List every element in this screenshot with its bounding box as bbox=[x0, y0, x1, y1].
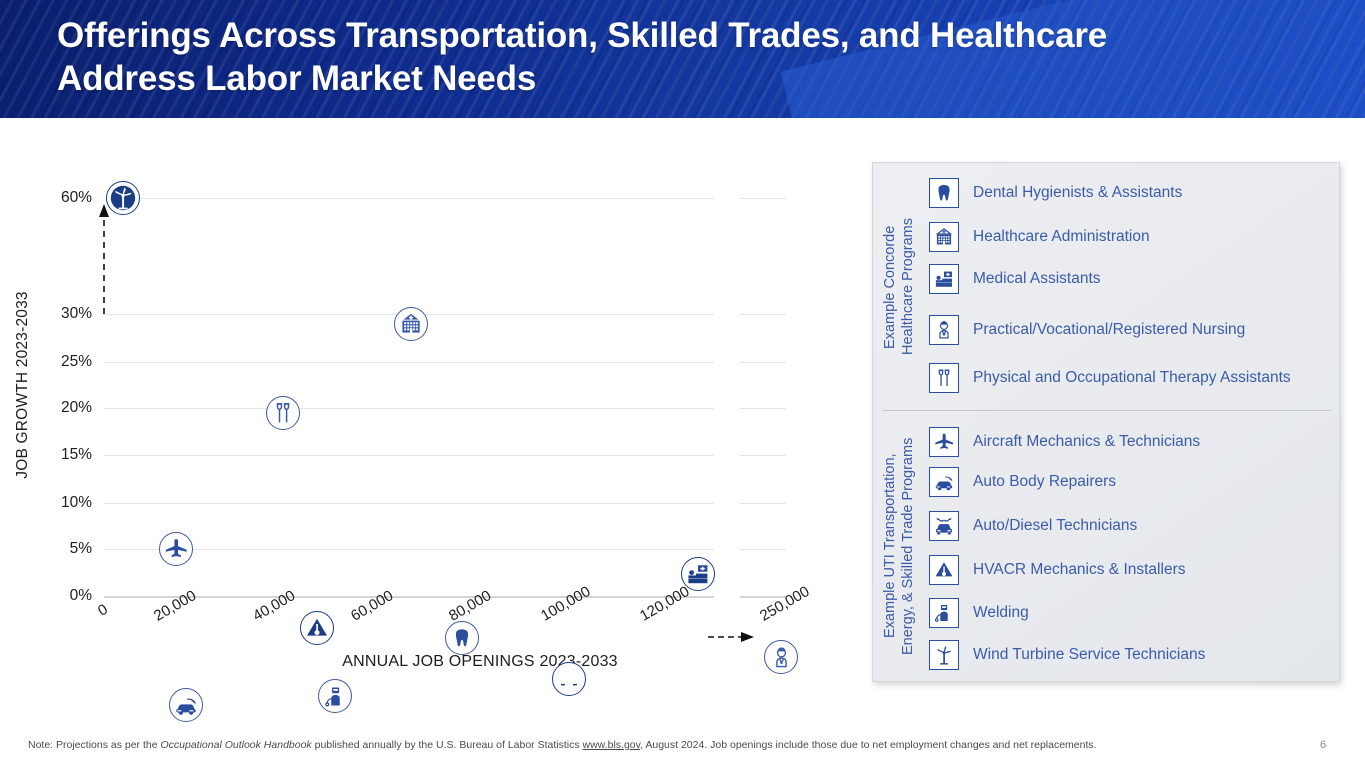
gridline-25-ext bbox=[740, 362, 786, 363]
footnote-link[interactable]: www.bls.gov bbox=[583, 739, 641, 751]
hospital-icon bbox=[929, 222, 959, 252]
data-point-healthcare-administration[interactable] bbox=[394, 307, 428, 341]
legend-item-dental-hygienists[interactable]: Dental Hygienists & Assistants bbox=[929, 178, 1182, 208]
x-tick-20000: 20,000 bbox=[151, 587, 199, 625]
car-body-icon bbox=[929, 467, 959, 497]
y-tick-60: 60% bbox=[20, 189, 92, 207]
car-wrench-icon bbox=[929, 511, 959, 541]
wind-turbine-icon bbox=[110, 185, 136, 211]
legend-item-label: Wind Turbine Service Technicians bbox=[973, 646, 1205, 664]
page-title: Offerings Across Transportation, Skilled… bbox=[57, 14, 1207, 101]
airplane-icon bbox=[929, 427, 959, 457]
footnote-middle: published annually by the U.S. Bureau of… bbox=[312, 739, 583, 751]
data-point-wind-turbine-service-technicians[interactable] bbox=[106, 181, 140, 215]
y-axis-ticks: 60% 30% 25% 20% 15% 10% 5% 0% bbox=[20, 118, 92, 618]
footnote: Note: Projections as per the Occupationa… bbox=[28, 739, 1228, 751]
legend-item-wind-turbine-technicians[interactable]: Wind Turbine Service Technicians bbox=[929, 640, 1205, 670]
footnote-publication-title: Occupational Outlook Handbook bbox=[161, 739, 312, 751]
data-point-aircraft-mechanics-and-technicians[interactable] bbox=[159, 532, 193, 566]
x-tick-60000: 60,000 bbox=[348, 587, 396, 625]
nurse-icon bbox=[769, 645, 794, 670]
thermostat-icon bbox=[929, 555, 959, 585]
airplane-icon bbox=[163, 536, 189, 562]
wind-turbine-icon bbox=[929, 640, 959, 670]
gridline-20-ext bbox=[740, 408, 786, 409]
x-tick-40000: 40,000 bbox=[250, 587, 298, 625]
tooth-icon bbox=[450, 626, 474, 650]
legend-item-label: HVACR Mechanics & Installers bbox=[973, 561, 1185, 579]
legend-item-auto-diesel-technicians[interactable]: Auto/Diesel Technicians bbox=[929, 511, 1137, 541]
data-point-physical-and-occupational-therapy-assistants[interactable] bbox=[266, 396, 300, 430]
car-wrench-icon bbox=[556, 666, 582, 692]
legend-item-medical-assistants[interactable]: Medical Assistants bbox=[929, 264, 1101, 294]
welder-icon bbox=[323, 684, 348, 709]
gridline-20 bbox=[104, 408, 714, 409]
crutches-icon bbox=[929, 363, 959, 393]
welder-icon bbox=[929, 598, 959, 628]
x-tick-120000: 120,000 bbox=[637, 583, 692, 625]
gridline-10 bbox=[104, 503, 714, 504]
legend-item-healthcare-administration[interactable]: Healthcare Administration bbox=[929, 222, 1150, 252]
y-tick-20: 20% bbox=[20, 399, 92, 417]
legend-item-label: Dental Hygienists & Assistants bbox=[973, 184, 1182, 202]
legend-item-aircraft-mechanics[interactable]: Aircraft Mechanics & Technicians bbox=[929, 427, 1200, 457]
legend-item-label: Medical Assistants bbox=[973, 270, 1101, 288]
tooth-icon bbox=[929, 178, 959, 208]
gridline-5-ext bbox=[740, 549, 786, 550]
nurse-icon bbox=[929, 315, 959, 345]
y-tick-5: 5% bbox=[20, 540, 92, 558]
x-tick-100000: 100,000 bbox=[538, 583, 593, 625]
x-tick-80000: 80,000 bbox=[446, 587, 494, 625]
gridline-25 bbox=[104, 362, 714, 363]
footnote-suffix: , August 2024. Job openings include thos… bbox=[640, 739, 1096, 751]
gridline-15 bbox=[104, 455, 714, 456]
legend-item-auto-body-repairers[interactable]: Auto Body Repairers bbox=[929, 467, 1116, 497]
legend-item-hvacr-mechanics[interactable]: HVACR Mechanics & Installers bbox=[929, 555, 1185, 585]
data-point-medical-assistants[interactable] bbox=[681, 557, 715, 591]
crutches-icon bbox=[270, 400, 296, 426]
legend-group-uti: Example UTI Transportation, Energy, & Sk… bbox=[873, 415, 1341, 677]
legend-group-label-uti: Example UTI Transportation, Energy, & Sk… bbox=[881, 421, 917, 671]
legend-item-label: Auto Body Repairers bbox=[973, 473, 1116, 491]
x-tick-0: 0 bbox=[95, 601, 111, 620]
legend-item-label: Practical/Vocational/Registered Nursing bbox=[973, 321, 1245, 339]
slide-header-banner: Offerings Across Transportation, Skilled… bbox=[0, 0, 1365, 118]
y-axis-break-arrow bbox=[97, 204, 111, 316]
car-body-icon bbox=[173, 692, 199, 718]
legend-item-label: Aircraft Mechanics & Technicians bbox=[973, 433, 1200, 451]
legend-group-concorde: Example Concorde Healthcare Programs Den… bbox=[873, 163, 1341, 410]
data-point-welding[interactable] bbox=[318, 679, 352, 713]
y-tick-30: 30% bbox=[20, 305, 92, 323]
y-tick-15: 15% bbox=[20, 446, 92, 464]
page-number: 6 bbox=[1320, 739, 1326, 751]
scatter-chart: JOB GROWTH 2023-2033 ANNUAL JOB OPENINGS… bbox=[0, 118, 870, 718]
x-axis-title: ANNUAL JOB OPENINGS 2023-2033 bbox=[200, 653, 760, 671]
data-point-hvacr-mechanics-and-installers[interactable] bbox=[300, 611, 334, 645]
legend-item-pt-ot-assistants[interactable]: Physical and Occupational Therapy Assist… bbox=[929, 363, 1291, 393]
legend-divider bbox=[883, 410, 1331, 411]
slide: Offerings Across Transportation, Skilled… bbox=[0, 0, 1365, 768]
legend-group-label-concorde: Example Concorde Healthcare Programs bbox=[881, 187, 917, 387]
data-point-practical-vocational-registered-nursing[interactable] bbox=[764, 640, 798, 674]
y-tick-0: 0% bbox=[20, 587, 92, 605]
legend-item-welding[interactable]: Welding bbox=[929, 598, 1029, 628]
gridline-30-ext bbox=[740, 314, 786, 315]
legend-item-label: Healthcare Administration bbox=[973, 228, 1150, 246]
legend-item-label: Physical and Occupational Therapy Assist… bbox=[973, 369, 1291, 387]
gridline-15-ext bbox=[740, 455, 786, 456]
footnote-prefix: Note: Projections as per the bbox=[28, 739, 161, 751]
legend-item-nursing[interactable]: Practical/Vocational/Registered Nursing bbox=[929, 315, 1245, 345]
gridline-5 bbox=[104, 549, 714, 550]
y-tick-25: 25% bbox=[20, 353, 92, 371]
gridline-10-ext bbox=[740, 503, 786, 504]
data-point-auto-body-repairers[interactable] bbox=[169, 688, 203, 722]
x-tick-250000: 250,000 bbox=[757, 583, 812, 625]
data-point-auto-diesel-technicians[interactable] bbox=[552, 662, 586, 696]
gridline-60-ext bbox=[740, 198, 786, 199]
legend-item-label: Welding bbox=[973, 604, 1029, 622]
legend-panel: Example Concorde Healthcare Programs Den… bbox=[872, 162, 1340, 682]
hospital-icon bbox=[398, 311, 424, 337]
patient-bed-icon bbox=[685, 561, 711, 587]
thermostat-icon bbox=[304, 615, 330, 641]
legend-item-label: Auto/Diesel Technicians bbox=[973, 517, 1137, 535]
data-point-dental-hygienists-and-assistants[interactable] bbox=[445, 621, 479, 655]
gridline-60 bbox=[104, 198, 714, 199]
x-axis-break-arrow bbox=[708, 630, 754, 644]
patient-bed-icon bbox=[929, 264, 959, 294]
y-tick-10: 10% bbox=[20, 494, 92, 512]
